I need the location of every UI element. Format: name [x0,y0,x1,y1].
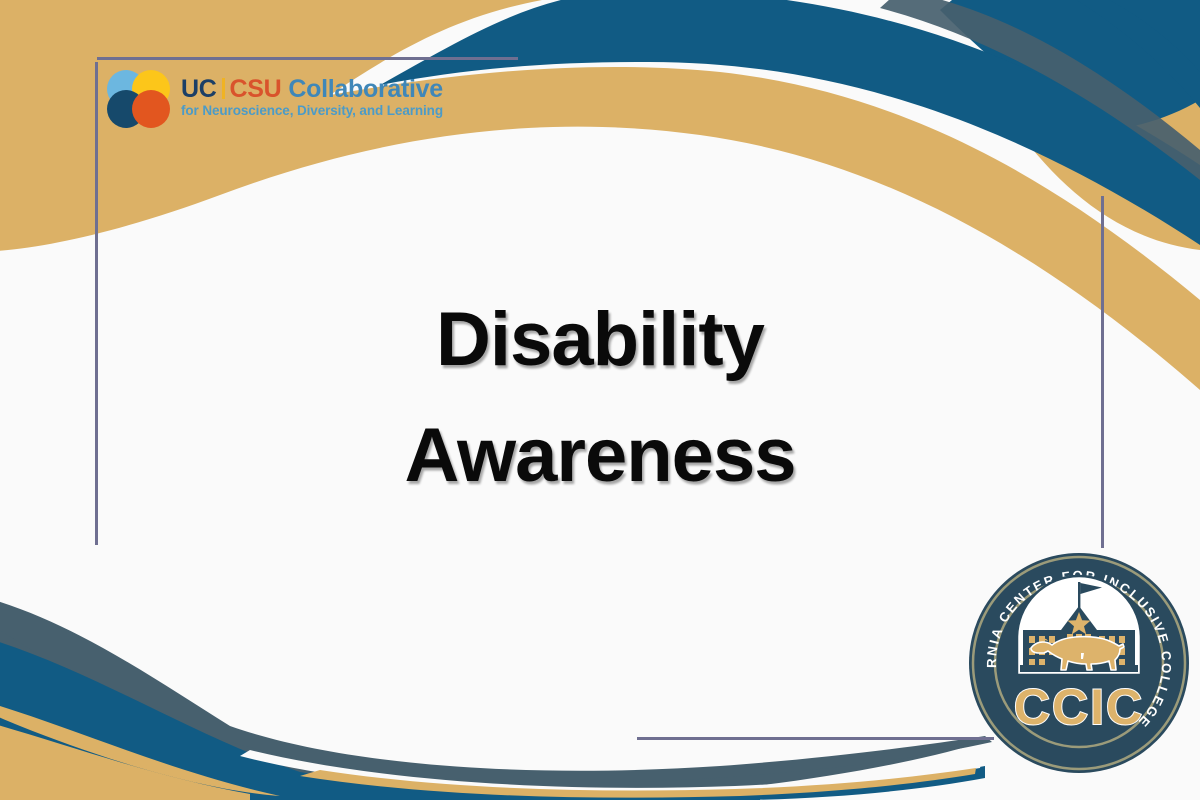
frame-line-top [97,57,518,60]
page-title: Disability Awareness [0,282,1200,513]
swoosh-bottom-slate-upper [0,596,992,783]
seal-acronym-text: CCIC [1014,679,1144,735]
seal-flag-pole [1078,582,1080,608]
seal-building-base [1020,665,1138,672]
logo-csu-text: CSU [230,77,282,103]
uccsu-logo-text: UC CSU Collaborative for Neuroscience, D… [181,76,443,118]
logo-divider-bar [222,78,225,99]
swoosh-bottom-blue-arc [0,636,985,800]
swoosh-bottom-gold-left [0,700,280,796]
frame-corner-top-left [0,0,26,26]
circle-orange-icon [132,90,170,128]
page-title-line-2: Awareness [0,398,1200,514]
swoosh-bottom-gold [0,720,250,800]
logo-subtitle-text: for Neuroscience, Diversity, and Learnin… [181,104,443,118]
swoosh-bottom-blue [0,660,760,800]
ccic-seal-logo: CALIFORNIA CENTER FOR INCLUSIVE COLLEGE [968,552,1190,774]
swoosh-top-blue-wisp [1060,0,1200,108]
swoosh-bottom-gold-thin [300,768,976,798]
swoosh-top-slate [880,0,1200,180]
swoosh-top-blue-main [380,0,1200,245]
swoosh-bottom-slate [0,600,990,798]
page-title-line-1: Disability [0,282,1200,398]
swoosh-top-blue-outer [940,0,1200,127]
uccsu-collaborative-logo: UC CSU Collaborative for Neuroscience, D… [101,66,471,128]
uccsu-circles-icon [101,68,175,126]
logo-collaborative-text: Collaborative [288,77,442,103]
swoosh-top-gold-outer [1010,100,1200,250]
slide-canvas: UC CSU Collaborative for Neuroscience, D… [0,0,1200,800]
swoosh-bottom-white-streak [240,750,982,795]
logo-uc-text: UC [181,77,217,103]
frame-line-bottom [637,737,994,740]
uccsu-logo-title: UC CSU Collaborative [181,76,443,103]
